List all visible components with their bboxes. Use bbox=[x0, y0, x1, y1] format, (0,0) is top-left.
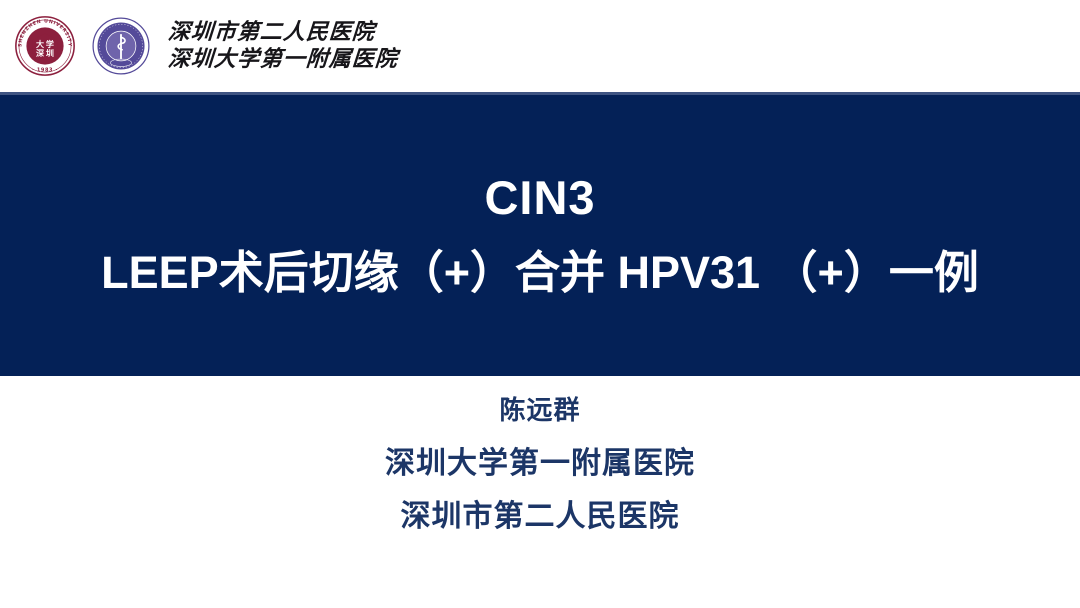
hospital-name-line-2: 深圳大学第一附属医院 bbox=[167, 47, 399, 72]
title-band: CIN3 LEEP术后切缘（+）合并 HPV31 （+）一例 bbox=[0, 92, 1080, 376]
presenter-name: 陈远群 bbox=[499, 396, 580, 426]
svg-text:· 1983 ·: · 1983 · bbox=[32, 67, 58, 73]
presenter-block: 陈远群 深圳大学第一附属医院 深圳市第二人民医院 bbox=[0, 396, 1080, 535]
svg-text:深: 深 bbox=[36, 48, 44, 58]
hospital-emblem-icon bbox=[90, 15, 152, 77]
slide-header: 大 学 深 圳 SHENZHEN UNIVERSITY · 1983 · 深圳市… bbox=[0, 0, 1080, 92]
presenter-affiliation-2: 深圳市第二人民医院 bbox=[401, 499, 680, 535]
page-title: CIN3 bbox=[484, 172, 595, 248]
title-slide: 大 学 深 圳 SHENZHEN UNIVERSITY · 1983 · 深圳市… bbox=[0, 0, 1080, 608]
hospital-name-line-1: 深圳市第二人民医院 bbox=[167, 20, 399, 45]
page-subtitle: LEEP术后切缘（+）合并 HPV31 （+）一例 bbox=[101, 247, 979, 299]
shenzhen-university-seal-icon: 大 学 深 圳 SHENZHEN UNIVERSITY · 1983 · bbox=[14, 15, 76, 77]
presenter-affiliation-1: 深圳大学第一附属医院 bbox=[385, 446, 695, 482]
hospital-name-calligraphy: 深圳市第二人民医院 深圳大学第一附属医院 bbox=[168, 20, 398, 71]
svg-text:圳: 圳 bbox=[46, 48, 54, 58]
